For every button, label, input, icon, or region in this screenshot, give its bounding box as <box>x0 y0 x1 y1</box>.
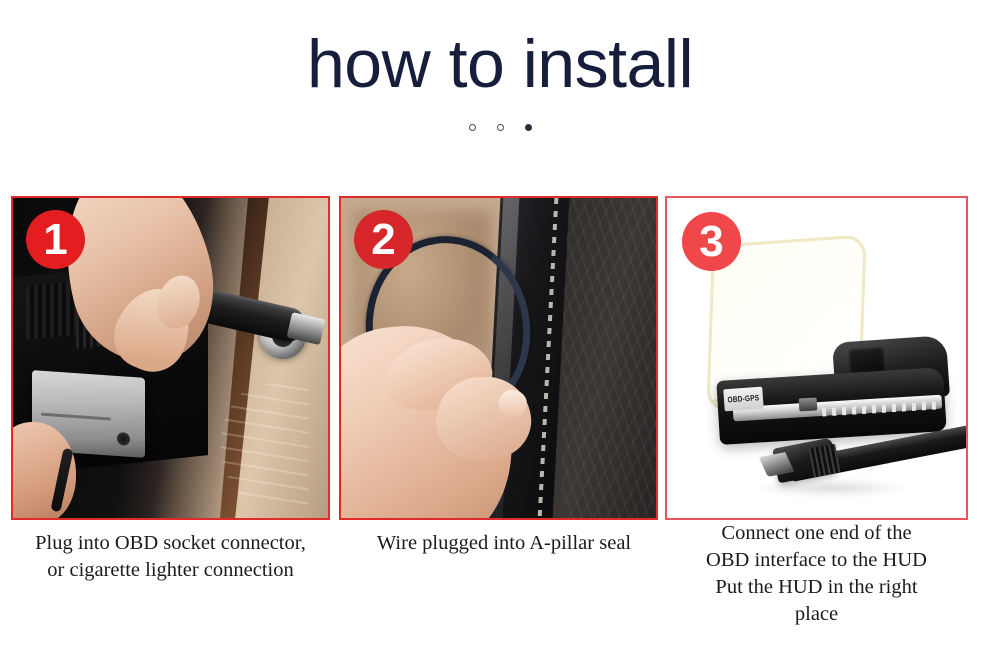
step-badge-3: 3 <box>682 212 741 271</box>
device-label: OBD-GPS <box>723 387 763 412</box>
header: how to install <box>0 0 1000 134</box>
step-3-caption-line-3: Put the HUD in the right <box>665 574 968 601</box>
step-3-caption-line-1: Connect one end of the <box>665 520 968 547</box>
carousel-dot-3[interactable] <box>525 124 532 131</box>
carousel-dot-1[interactable] <box>469 124 476 131</box>
step-badge-1: 1 <box>26 210 85 269</box>
step-panel-3[interactable]: OBD-GPS 3 <box>665 196 968 520</box>
carousel-dot-2[interactable] <box>497 124 504 131</box>
mini-usb-port <box>798 397 817 411</box>
step-2-caption-line-1: Wire plugged into A-pillar seal <box>345 530 663 557</box>
step-1-caption: Plug into OBD socket connector, or cigar… <box>0 530 341 584</box>
step-3-caption: Connect one end of the OBD interface to … <box>665 520 968 628</box>
device-label-text: OBD-GPS <box>727 394 759 405</box>
step-3-caption-line-4: place <box>665 601 968 628</box>
carousel-dots <box>0 120 1000 134</box>
steps-gallery: C 1 <box>0 196 1000 520</box>
page-title: how to install <box>0 30 1000 98</box>
step-1-caption-line-1: Plug into OBD socket connector, <box>0 530 341 557</box>
step-3-caption-line-2: OBD interface to the HUD <box>665 547 968 574</box>
step-panel-1[interactable]: C 1 <box>11 196 330 520</box>
step-2-caption: Wire plugged into A-pillar seal <box>345 530 663 557</box>
step-1-caption-line-2: or cigarette lighter connection <box>0 557 341 584</box>
step-badge-2: 2 <box>354 210 413 269</box>
step-panel-2[interactable]: 2 <box>339 196 658 520</box>
dashboard-knob-label: C <box>282 430 312 448</box>
